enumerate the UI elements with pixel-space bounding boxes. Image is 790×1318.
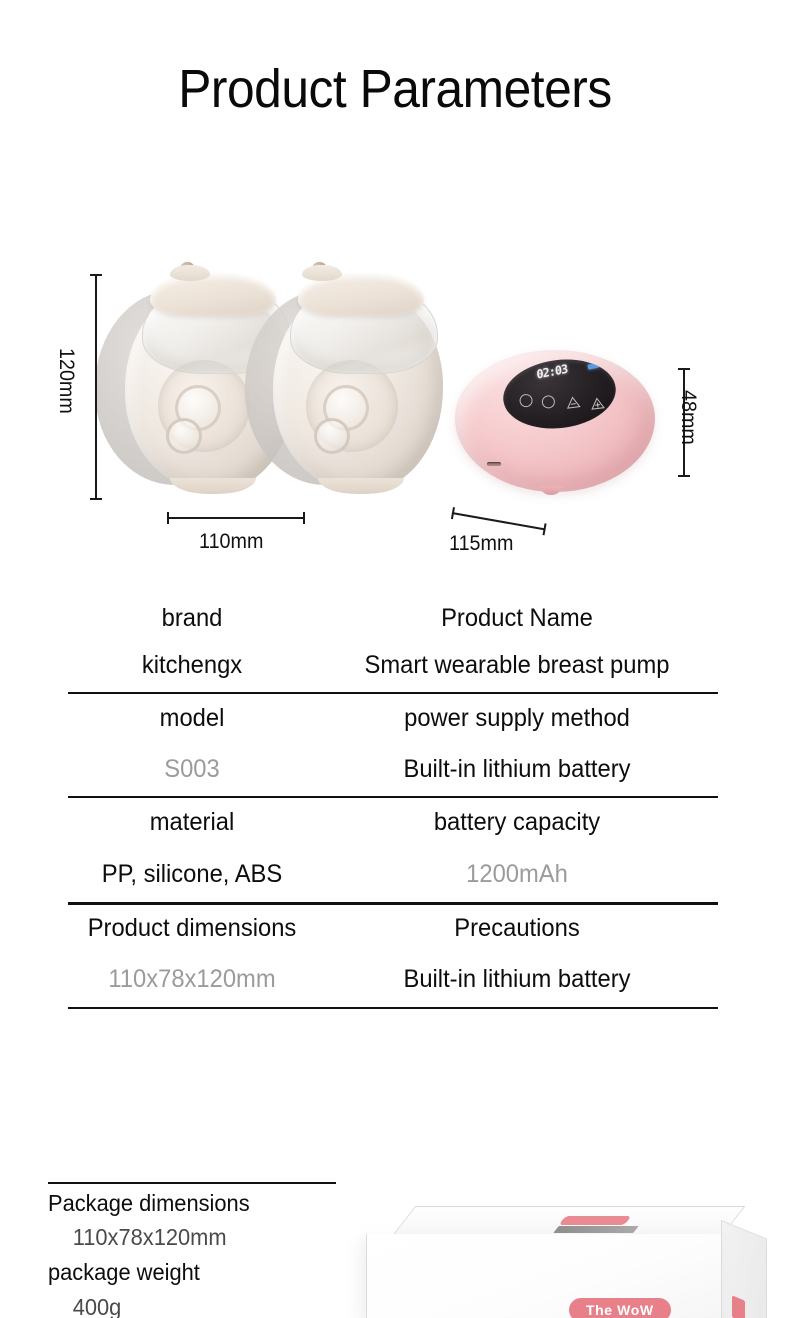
product-parameters-page: Product Parameters bbox=[0, 0, 790, 1318]
dimension-line-cup-width bbox=[167, 517, 305, 519]
spec-header-battery-capacity: battery capacity bbox=[326, 810, 708, 835]
box-wow-badge: The WoW bbox=[569, 1298, 671, 1318]
spec-header-material: material bbox=[74, 810, 310, 835]
table-row-header: brand Product Name bbox=[68, 598, 718, 638]
page-title: Product Parameters bbox=[32, 58, 759, 120]
table-row-header: model power supply method bbox=[68, 694, 718, 742]
package-weight-label: package weight bbox=[48, 1261, 324, 1284]
table-divider bbox=[68, 1007, 718, 1009]
spec-table: brand Product Name kitchengx Smart weara… bbox=[68, 598, 718, 1009]
battery-icon bbox=[587, 363, 599, 370]
dimension-line-motor-width bbox=[452, 512, 546, 530]
table-row-header: Product dimensions Precautions bbox=[68, 905, 718, 953]
table-row-header: material battery capacity bbox=[68, 798, 718, 846]
spec-block-material: material battery capacity PP, silicone, … bbox=[68, 798, 718, 904]
box-top-logo-badge bbox=[558, 1216, 631, 1225]
spec-value-material: PP, silicone, ABS bbox=[74, 862, 310, 887]
box-top-logo-text bbox=[553, 1226, 638, 1233]
decrease-icon[interactable] bbox=[565, 396, 580, 410]
dimension-line-cup-height bbox=[95, 274, 97, 500]
package-divider bbox=[48, 1182, 336, 1184]
table-row-value: S003 Built-in lithium battery bbox=[68, 742, 718, 796]
spec-header-product-dimensions: Product dimensions bbox=[74, 916, 310, 941]
package-dimensions-value: 110x78x120mm bbox=[48, 1226, 324, 1249]
spec-header-model: model bbox=[74, 706, 310, 731]
motor-foot bbox=[540, 486, 562, 495]
product-photo-area: 02:03 120mm 110mm bbox=[0, 240, 790, 580]
dimension-label-motor-height: 48mm bbox=[676, 390, 700, 445]
increase-icon[interactable] bbox=[590, 397, 605, 411]
package-weight-value: 400g bbox=[48, 1296, 324, 1318]
spec-value-power-supply: Built-in lithium battery bbox=[326, 757, 708, 782]
spec-value-product-name: Smart wearable breast pump bbox=[326, 653, 708, 678]
spec-header-power-supply: power supply method bbox=[326, 706, 708, 731]
dimension-label-cup-width: 110mm bbox=[199, 530, 263, 554]
spec-value-model: S003 bbox=[74, 757, 310, 782]
timer-icon[interactable] bbox=[541, 395, 555, 409]
lcd-digits: 02:03 bbox=[536, 365, 567, 380]
table-row-value: 110x78x120mm Built-in lithium battery bbox=[68, 953, 718, 1007]
package-dimensions-label: Package dimensions bbox=[48, 1192, 324, 1215]
spec-value-brand: kitchengx bbox=[74, 653, 310, 678]
package-info: Package dimensions 110x78x120mm package … bbox=[48, 1182, 338, 1318]
packaging-box: The WoW bbox=[366, 1206, 790, 1318]
spec-value-battery-capacity: 1200mAh bbox=[326, 862, 708, 887]
spec-header-precautions: Precautions bbox=[326, 916, 708, 941]
spec-value-precautions: Built-in lithium battery bbox=[326, 967, 708, 992]
table-row-value: kitchengx Smart wearable breast pump bbox=[68, 638, 718, 692]
table-row-value: PP, silicone, ABS 1200mAh bbox=[68, 846, 718, 902]
power-icon[interactable] bbox=[519, 393, 533, 407]
spec-block-brand: brand Product Name kitchengx Smart weara… bbox=[68, 598, 718, 694]
charging-port bbox=[487, 462, 501, 466]
spec-value-product-dimensions: 110x78x120mm bbox=[74, 967, 310, 992]
spec-header-product-name: Product Name bbox=[326, 606, 708, 631]
spec-block-dimensions: Product dimensions Precautions 110x78x12… bbox=[68, 905, 718, 1009]
dimension-label-cup-height: 120mm bbox=[54, 348, 78, 414]
spec-header-brand: brand bbox=[74, 606, 310, 631]
spec-block-model: model power supply method S003 Built-in … bbox=[68, 694, 718, 798]
dimension-label-motor-width: 115mm bbox=[449, 532, 513, 556]
